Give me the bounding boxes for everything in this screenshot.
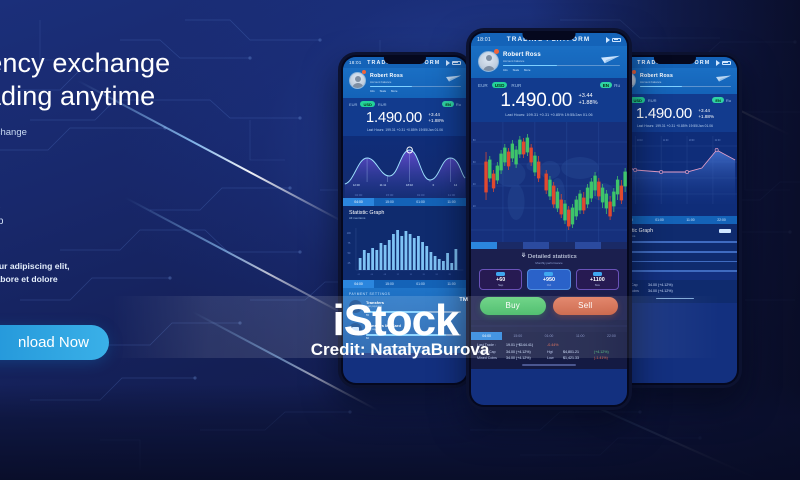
dark-time-1[interactable]: 15:00 (502, 332, 533, 340)
profile-progress (370, 86, 461, 87)
svg-text:08: 08 (384, 274, 387, 276)
last-hours-text: Last Hours: 199.31 +0.31 +0.85% 19:55/Ja… (349, 128, 461, 132)
profile-progress-center (503, 65, 620, 66)
uiux-subtitle: Mobile App (0, 216, 254, 227)
detailed-statistics-label: Detailed statistics (528, 254, 577, 260)
currency-usd-center[interactable]: USD (492, 82, 508, 88)
battery-icon (452, 61, 461, 65)
stat-tag-icon-3 (593, 272, 602, 276)
avatar (349, 72, 366, 89)
home-indicator-center (522, 364, 575, 366)
battery-icon-center (612, 38, 621, 42)
currency-eur-center[interactable]: EUR (478, 83, 488, 88)
sell-button[interactable]: Sell (553, 297, 619, 315)
status-time-center: 18:01 (477, 37, 491, 43)
payment-item-transfers[interactable]: Transfers Last payment 55 (349, 300, 461, 317)
page-title: urrency exchange , trading anytime (0, 48, 254, 113)
lang-ru-center[interactable]: Ru (614, 83, 620, 88)
stat-card-sep[interactable]: +60 Sep (479, 269, 522, 290)
currency-row[interactable]: EUR USD RUR EN Ru (343, 98, 467, 108)
timebar2-tab-3[interactable]: 11:00 (436, 280, 467, 288)
svg-text:10:10: 10:10 (637, 140, 643, 142)
payment-settings-header: PAYMENT SETTINGS (349, 292, 461, 296)
svg-text:11:00: 11:00 (663, 140, 669, 142)
svg-text:24: 24 (436, 274, 439, 276)
payment-item-transfers-my-card[interactable]: Transfers My Card Last payment 82 (349, 323, 461, 340)
row-value-mined-coins: 34.00 (+4.12%) (506, 356, 544, 360)
stat-month-nov: Nov (577, 283, 618, 287)
price-change-pct: +1.88% (428, 118, 444, 124)
headline-line-2: , trading anytime (0, 81, 254, 112)
price-value: 1.490.00 (366, 109, 422, 126)
detailed-statistics-title: ⤋ Detailed statistics (471, 249, 627, 261)
payment-info-1: Transfers My Card Last payment 82 (366, 323, 461, 340)
row-label-high: Hgt (547, 350, 560, 354)
lang-ru-right[interactable]: Ru (726, 98, 731, 103)
payment-sub-1: Last payment (366, 328, 461, 331)
dark-data-panel: 04:00 15:00 01:00 11:00 22:00 Last Trade… (471, 320, 627, 368)
profile-card-center[interactable]: Robert Ross Account balance Info Stats M… (471, 46, 627, 78)
headline-line-1: urrency exchange (0, 48, 254, 79)
profile-tab-center-2[interactable]: More (524, 68, 530, 72)
table-v1-1: 34.00 (+4.12%) (648, 289, 686, 293)
statistic-section: Statistic Graph All mentions (343, 206, 467, 280)
stat-month-oct: Oct (528, 283, 569, 287)
candlestick-chart[interactable]: 80604020 (471, 122, 627, 242)
paper-plane-icon-right (716, 75, 732, 82)
paper-plane-icon (446, 75, 462, 82)
promo-lorem: , consectetur adipiscing elit, didunt ut… (0, 260, 254, 287)
row-value-market-cap: 34.00 (+4.12%) (506, 350, 544, 354)
lang-en[interactable]: EN (442, 101, 454, 107)
notification-badge (362, 70, 366, 74)
payment-value-1: 82 (366, 337, 461, 340)
timebar2-tab-2[interactable]: 01:00 (405, 280, 436, 288)
timebar2-tab-1[interactable]: 15:00 (374, 280, 405, 288)
svg-text:16: 16 (410, 274, 413, 276)
phone-left: 18:01 TRADING PLATFORM Robert Ross Accou… (338, 52, 472, 388)
svg-text:22:00: 22:00 (715, 140, 721, 142)
profile-tab-center-1[interactable]: Stats (513, 68, 519, 72)
timebar2-tab-0[interactable]: 04:00 (343, 280, 374, 288)
wave-chart[interactable]: 12:00 11:11 18:02 0 14 04:00 15:00 01:00… (343, 136, 467, 198)
poster-canvas: urrency exchange , trading anytime ons f… (0, 0, 800, 480)
price-delta: +3.44 +1.88% (428, 112, 444, 123)
stat-cards[interactable]: +60 Sep +950 Oct +1100 Nov (471, 268, 627, 295)
svg-text:60: 60 (473, 161, 476, 164)
wave-label-3: 0 (433, 183, 435, 187)
notification-badge-right (632, 70, 636, 74)
uiux-title: I/UX (0, 187, 254, 215)
row-value-high: $4,801.21 (563, 350, 591, 354)
timebar-right-1[interactable]: 01:00 (644, 216, 675, 224)
price-delta-center: +3.44 +1.88% (578, 93, 597, 107)
promo-copy: urrency exchange , trading anytime ons f… (0, 48, 254, 286)
row-value-last-trade: 19.01 (^$144.41) (506, 343, 544, 347)
payment-value-0: 55 (366, 314, 461, 317)
currency-options-center[interactable]: EUR USD RUR (478, 82, 521, 88)
svg-text:28: 28 (448, 274, 451, 276)
signal-icon-center (606, 37, 610, 43)
price-value-right: 1.490.00 (636, 105, 692, 122)
svg-text:25: 25 (348, 262, 351, 265)
notification-badge-center (494, 49, 499, 54)
row-label-market-cap: Market Cap (477, 350, 503, 354)
timebar-right-3[interactable]: 22:00 (706, 216, 737, 224)
timebar-tab-2[interactable]: 01:00 (405, 198, 436, 206)
svg-text:01: 01 (358, 274, 361, 276)
wave-label-4: 14 (454, 183, 457, 187)
row-label-low: Low (547, 356, 560, 360)
phone-center: 18:01 TRADING PLATFORM Robert Ross Accou… (466, 28, 632, 410)
stat-tag-icon-2 (544, 272, 553, 276)
market-table: Last Trade : 19.01 (^$144.41) -0.44% Mar… (471, 340, 627, 361)
row-delta-last-trade: -0.44% (547, 343, 558, 347)
stat-card-nov[interactable]: +1100 Nov (576, 269, 619, 290)
lang-en-right[interactable]: EN (712, 97, 724, 103)
row-value-low: $1,421.33 (563, 356, 591, 360)
currency-row-center[interactable]: EUR USD RUR EN Ru (471, 78, 627, 89)
wave-point-labels: 12:00 11:11 18:02 0 14 (343, 183, 467, 187)
profile-tab-center-0[interactable]: Info (503, 68, 508, 72)
currency-rur-right[interactable]: RUR (648, 98, 657, 103)
table-row: Mined Coins 34.00 (+4.12%) (619, 288, 731, 294)
phone-center-notch (522, 33, 575, 40)
price-delta-right: +3.44 +1.88% (698, 108, 714, 119)
currency-rur[interactable]: RUR (378, 102, 387, 107)
statistic-title: Statistic Graph (343, 206, 467, 216)
svg-text:100: 100 (347, 232, 352, 235)
currency-usd-right[interactable]: USD (630, 97, 644, 103)
timebar-tab-3[interactable]: 11:00 (436, 198, 467, 206)
phone-left-notch (384, 57, 426, 64)
timebar-bottom[interactable]: 04:00 15:00 01:00 11:00 (343, 280, 467, 288)
profile-tab-0[interactable]: Info (370, 89, 375, 93)
home-indicator (386, 346, 424, 348)
payment-settings-panel: PAYMENT SETTINGS Transfers Last payment … (343, 288, 467, 353)
payment-progress-1[interactable] (366, 334, 461, 336)
phone-right-notch (654, 57, 696, 64)
wave-label-0: 12:00 (353, 183, 360, 187)
status-time: 18:01 (349, 60, 362, 65)
wave-time-3: 11:00 (448, 193, 455, 197)
svg-text:50: 50 (348, 252, 351, 255)
battery-icon-right (722, 61, 731, 65)
statistic-bar-chart[interactable]: 100755025 010408 121620 2428 (343, 222, 467, 278)
row-delta-low: (-1.41%) (594, 356, 608, 360)
phone-center-screen: 18:01 TRADING PLATFORM Robert Ross Accou… (471, 33, 627, 405)
profile-tabs-center[interactable]: Info Stats More (503, 68, 620, 72)
stat-month-sep: Sep (480, 283, 521, 287)
wave-time-2: 01:00 (417, 193, 425, 197)
row-label-mined-coins: Mined Coins (477, 356, 503, 360)
timebar-top[interactable]: 04:00 15:00 01:00 11:00 (343, 198, 467, 206)
download-now-button[interactable]: nload Now (0, 325, 109, 360)
currency-options[interactable]: EUR USD RUR (349, 101, 387, 107)
profile-tab-1[interactable]: Stats (380, 89, 386, 93)
credit-card-icon (349, 300, 362, 313)
status-icons-right (716, 60, 731, 66)
row-label-last-trade: Last Trade : (477, 343, 503, 347)
wave-axis-times: 04:00 15:00 01:00 11:00 (343, 193, 467, 197)
table-v1-0: 34.00 (+4.12%) (648, 283, 686, 287)
svg-text:12: 12 (397, 274, 400, 276)
row-delta-high: (+4.12%) (594, 350, 609, 354)
language-switch-right[interactable]: EN Ru (712, 97, 731, 103)
profile-tabs[interactable]: Info Stats More (370, 89, 461, 93)
currency-rur-center[interactable]: RUR (511, 83, 521, 88)
payment-progress-0[interactable] (366, 311, 461, 313)
download-arrow-icon: ⤋ (521, 253, 526, 259)
wave-label-2: 18:02 (406, 183, 413, 187)
dark-time-2[interactable]: 01:00 (533, 332, 564, 340)
signal-icon-right (716, 60, 720, 66)
buy-button[interactable]: Buy (480, 297, 546, 315)
wave-time-1: 15:00 (386, 193, 394, 197)
stat-tag-icon (496, 272, 505, 276)
signal-icon (446, 60, 450, 66)
wave-time-0: 04:00 (355, 193, 363, 197)
price-change-abs-center: +3.44 (578, 93, 597, 100)
currency-eur[interactable]: EUR (349, 102, 357, 107)
lang-en-center[interactable]: EN (600, 82, 612, 88)
chart-scrubber[interactable] (471, 242, 627, 249)
svg-text:04: 04 (371, 274, 374, 276)
stat-card-oct[interactable]: +950 Oct (527, 269, 570, 290)
chart-toggle-icon[interactable] (719, 229, 731, 233)
detailed-statistics-section: ⤋ Detailed statistics Monthly performanc… (471, 249, 627, 320)
svg-text:20: 20 (473, 205, 476, 208)
timebar-tab-1[interactable]: 15:00 (374, 198, 405, 206)
timebar-right-2[interactable]: 11:00 (675, 216, 706, 224)
paper-plane-icon-center (601, 55, 621, 64)
dark-time-4[interactable]: 22:00 (596, 332, 627, 340)
phone-left-screen: 18:01 TRADING PLATFORM Robert Ross Accou… (343, 57, 467, 383)
currency-usd-selected[interactable]: USD (360, 101, 374, 107)
payment-sub-0: Last payment (366, 305, 461, 308)
profile-tab-2[interactable]: More (391, 89, 397, 93)
svg-text:19:00: 19:00 (689, 140, 695, 142)
buy-sell-row[interactable]: Buy Sell (471, 295, 627, 320)
status-icons-center (606, 37, 621, 43)
avatar-center (478, 51, 499, 72)
language-switch-center[interactable]: EN Ru (600, 82, 620, 88)
profile-card[interactable]: Robert Ross Account balance Info Stats M… (343, 68, 467, 98)
lang-ru[interactable]: Ru (456, 102, 461, 107)
svg-text:40: 40 (473, 183, 476, 186)
dark-time-0[interactable]: 04:00 (471, 332, 502, 340)
svg-text:75: 75 (348, 242, 351, 245)
status-icons (446, 60, 461, 66)
home-indicator-right (656, 298, 694, 300)
detailed-statistics-subtitle: Monthly performance (471, 261, 627, 268)
dark-timebar[interactable]: 04:00 15:00 01:00 11:00 22:00 (471, 332, 627, 340)
price-value-center: 1.490.00 (500, 90, 572, 112)
phone-left-bezel: 18:01 TRADING PLATFORM Robert Ross Accou… (341, 55, 469, 385)
svg-text:80: 80 (473, 139, 476, 142)
timebar-tab-0[interactable]: 04:00 (343, 198, 374, 206)
promo-subcopy: ons for exchange (0, 127, 254, 138)
credit-card-icon-2 (349, 323, 362, 336)
price-change-pct-right: +1.88% (698, 114, 714, 120)
price-block: 1.490.00 +3.44 +1.88% Last Hours: 199.31… (343, 108, 467, 136)
wave-label-1: 11:11 (380, 183, 387, 187)
dark-time-3[interactable]: 11:00 (565, 332, 596, 340)
price-change-pct-center: +1.88% (578, 100, 597, 107)
table-row: Mined Coins 34.00 (+4.12%) Low $1,421.33… (477, 355, 621, 361)
mini-sparkline (471, 320, 627, 332)
last-hours-text-center: Last Hours: 199.31 +0.31 +0.85% 19:55/Ja… (478, 113, 620, 117)
lorem-line-1: , consectetur adipiscing elit, (0, 260, 254, 273)
last-hours-text-right: Last Hours: 199.31 +0.31 +0.85% 19:55/Ja… (619, 124, 731, 128)
price-block-center: 1.490.00 +3.44 +1.88% Last Hours: 199.31… (471, 89, 627, 122)
lorem-line-2: didunt ut labore et dolore (0, 273, 254, 286)
payment-info-0: Transfers Last payment 55 (366, 300, 461, 317)
background-floor-reflection (0, 384, 800, 480)
profile-progress-right (640, 86, 731, 87)
svg-text:20: 20 (423, 274, 426, 276)
language-switch[interactable]: EN Ru (442, 101, 461, 107)
phone-center-bezel: 18:01 TRADING PLATFORM Robert Ross Accou… (469, 31, 629, 407)
